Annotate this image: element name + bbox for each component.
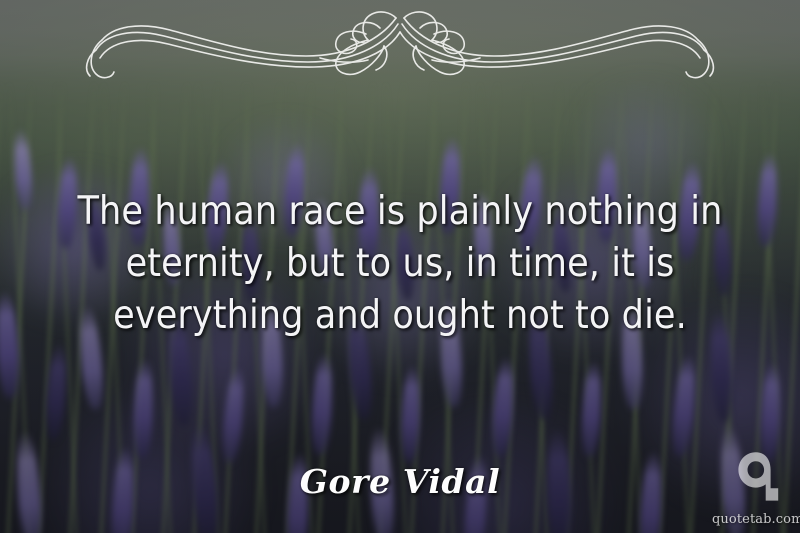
watermark-url: quotetab.com xyxy=(712,512,796,527)
quote-card: The human race is plainly nothing in ete… xyxy=(0,0,800,533)
flourish-ornament-icon xyxy=(80,10,720,82)
quotetab-logo-icon xyxy=(737,449,785,503)
quote-author: Gore Vidal xyxy=(0,463,800,501)
quote-line: The human race is plainly nothing in xyxy=(38,186,762,238)
quote-text: The human race is plainly nothing in ete… xyxy=(0,186,800,342)
quote-line: eternity, but to us, in time, it is xyxy=(38,238,762,290)
quote-line: everything and ought not to die. xyxy=(38,290,762,342)
